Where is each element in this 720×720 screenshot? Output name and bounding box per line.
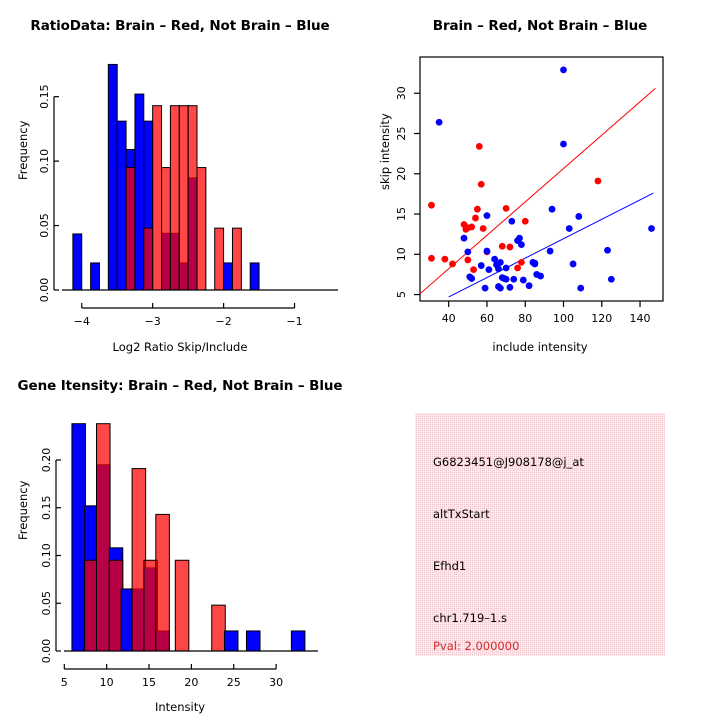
panel-gene-plot-area: 0.000.050.100.150.2051015202530 <box>0 360 360 720</box>
scatter-point <box>480 225 487 232</box>
scatter-point <box>560 66 567 73</box>
info-probe-id: G6823451@J908178@j_at <box>433 455 584 469</box>
scatter-point <box>497 259 504 266</box>
scatter-point <box>472 215 479 222</box>
scatter-point <box>428 202 435 209</box>
histogram-bar-blue <box>73 234 82 290</box>
scatter-point <box>461 235 468 242</box>
scatter-point <box>508 218 515 225</box>
y-tick-label: 0.10 <box>38 149 51 174</box>
panel-scatter-plot: Brain – Red, Not Brain – Blue include in… <box>360 0 720 360</box>
scatter-point <box>449 261 456 268</box>
histogram-bar-red <box>188 106 197 290</box>
histogram-bar-blue <box>250 263 259 290</box>
x-tick-label: 100 <box>553 312 574 325</box>
y-tick-label: 0.15 <box>40 495 53 520</box>
x-tick-label: 10 <box>100 676 114 689</box>
scatter-point <box>428 255 435 262</box>
scatter-point <box>520 277 527 284</box>
scatter-point <box>464 248 471 255</box>
scatter-point <box>518 259 525 266</box>
scatter-point <box>604 247 611 254</box>
x-tick-label: 140 <box>630 312 651 325</box>
scatter-point <box>518 241 525 248</box>
scatter-point <box>482 285 489 292</box>
y-tick-label: 0.05 <box>40 591 53 616</box>
scatter-point <box>474 206 481 213</box>
histogram-bar-red <box>179 106 188 290</box>
scatter-point <box>507 244 514 251</box>
histogram-bar-red <box>232 228 241 290</box>
panel-gene-ylabel: Frequency <box>16 481 30 540</box>
scatter-point <box>510 276 517 283</box>
multi-panel-figure: RatioData: Brain – Red, Not Brain – Blue… <box>0 0 720 720</box>
histogram-bar-blue <box>246 631 260 651</box>
scatter-point <box>441 256 448 263</box>
panel-gene-xlabel: Intensity <box>0 700 360 714</box>
info-box: G6823451@J908178@j_at altTxStart Efhd1 c… <box>415 413 665 656</box>
y-tick-label: 0.05 <box>38 213 51 238</box>
scatter-point <box>478 181 485 188</box>
y-tick-label: 0.00 <box>38 278 51 303</box>
histogram-bar-red <box>156 514 170 651</box>
histogram-bar-blue <box>291 631 305 651</box>
panel-gene-info: G6823451@J908178@j_at altTxStart Efhd1 c… <box>360 360 720 720</box>
scatter-point <box>468 224 475 231</box>
histogram-bar-red <box>97 424 111 651</box>
scatter-point <box>484 248 491 255</box>
x-tick-label: 30 <box>269 676 283 689</box>
histogram-bar-blue <box>224 631 238 651</box>
scatter-point <box>575 213 582 220</box>
scatter-point <box>470 266 477 273</box>
panel-ratio-title: RatioData: Brain – Red, Not Brain – Blue <box>0 18 360 34</box>
scatter-point <box>484 212 491 219</box>
scatter-point <box>478 262 485 269</box>
scatter-point <box>522 218 529 225</box>
y-tick-label: 25 <box>395 127 408 141</box>
y-tick-label: 0.00 <box>40 639 53 664</box>
scatter-point <box>577 285 584 292</box>
series-red <box>428 143 601 273</box>
info-locus: chr1.719–1.s <box>433 611 507 625</box>
scatter-point <box>531 261 538 268</box>
x-tick-label: 80 <box>518 312 532 325</box>
scatter-point <box>503 265 510 272</box>
panel-scatter-xlabel: include intensity <box>360 340 720 354</box>
histogram-bar-blue <box>91 263 100 290</box>
x-tick-label: 25 <box>227 676 241 689</box>
y-tick-label: 30 <box>395 86 408 100</box>
x-tick-label: 60 <box>480 312 494 325</box>
y-tick-label: 15 <box>395 207 408 221</box>
panel-ratio-histogram: RatioData: Brain – Red, Not Brain – Blue… <box>0 0 360 360</box>
scatter-point <box>549 206 556 213</box>
scatter-point <box>499 243 506 250</box>
histogram-bar-blue <box>135 94 144 290</box>
panel-scatter-title: Brain – Red, Not Brain – Blue <box>360 18 720 34</box>
scatter-point <box>503 276 510 283</box>
x-tick-label: −2 <box>215 315 231 328</box>
panel-gene-histogram: Gene Itensity: Brain – Red, Not Brain – … <box>0 360 360 720</box>
scatter-point <box>468 275 475 282</box>
x-tick-label: −1 <box>286 315 302 328</box>
x-tick-label: −4 <box>74 315 90 328</box>
scatter-point <box>566 225 573 232</box>
scatter-point <box>537 273 544 280</box>
y-tick-label: 0.15 <box>38 84 51 109</box>
x-tick-label: 20 <box>184 676 198 689</box>
histogram-bar-red <box>162 168 171 290</box>
y-tick-label: 20 <box>395 167 408 181</box>
y-tick-label: 0.20 <box>40 448 53 473</box>
histogram-bar-blue <box>224 263 233 290</box>
panel-ratio-plot-area: 0.000.050.100.15−4−3−2−1 <box>0 0 360 360</box>
scatter-point <box>497 285 504 292</box>
y-tick-label: 10 <box>395 247 408 261</box>
scatter-point <box>560 141 567 148</box>
panel-ratio-ylabel: Frequency <box>16 121 30 180</box>
x-tick-label: 120 <box>591 312 612 325</box>
scatter-point <box>570 261 577 268</box>
scatter-point <box>495 265 502 272</box>
histogram-bar-blue <box>117 121 126 290</box>
info-event-type: altTxStart <box>433 507 490 521</box>
y-tick-label: 0.10 <box>40 543 53 568</box>
histogram-bar-red <box>153 106 162 290</box>
info-pval: Pval: 2.000000 <box>433 639 519 653</box>
scatter-point <box>595 178 602 185</box>
panel-ratio-xlabel: Log2 Ratio Skip/Include <box>0 340 360 354</box>
info-gene-symbol: Efhd1 <box>433 559 466 573</box>
histogram-bar-red <box>170 106 179 290</box>
histogram-bar-blue <box>72 424 86 651</box>
histogram-bar-red <box>212 605 226 651</box>
scatter-point <box>526 282 533 289</box>
scatter-point <box>514 265 521 272</box>
scatter-point <box>503 205 510 212</box>
histogram-bar-red <box>197 168 206 290</box>
scatter-point <box>436 119 443 126</box>
scatter-point <box>648 225 655 232</box>
histogram-bar-blue <box>108 64 117 290</box>
x-tick-label: 40 <box>442 312 456 325</box>
y-tick-label: 5 <box>395 291 408 298</box>
histogram-bar-red <box>126 168 135 290</box>
histogram-bar-red <box>215 228 224 290</box>
histogram-bar-red <box>144 228 153 290</box>
x-tick-label: −3 <box>145 315 161 328</box>
x-tick-label: 15 <box>142 676 156 689</box>
scatter-point <box>507 284 514 291</box>
scatter-point <box>485 266 492 273</box>
panel-scatter-plot-area: 40608010012014051015202530 <box>360 0 720 360</box>
panel-scatter-ylabel: skip intensity <box>378 113 392 190</box>
scatter-point <box>608 276 615 283</box>
panel-gene-title: Gene Itensity: Brain – Red, Not Brain – … <box>0 378 360 394</box>
scatter-point <box>547 248 554 255</box>
plot-frame <box>420 57 663 301</box>
scatter-point <box>464 257 471 264</box>
x-tick-label: 5 <box>61 676 68 689</box>
histogram-bar-red <box>175 560 189 651</box>
scatter-point <box>516 235 523 242</box>
scatter-point <box>476 143 483 150</box>
